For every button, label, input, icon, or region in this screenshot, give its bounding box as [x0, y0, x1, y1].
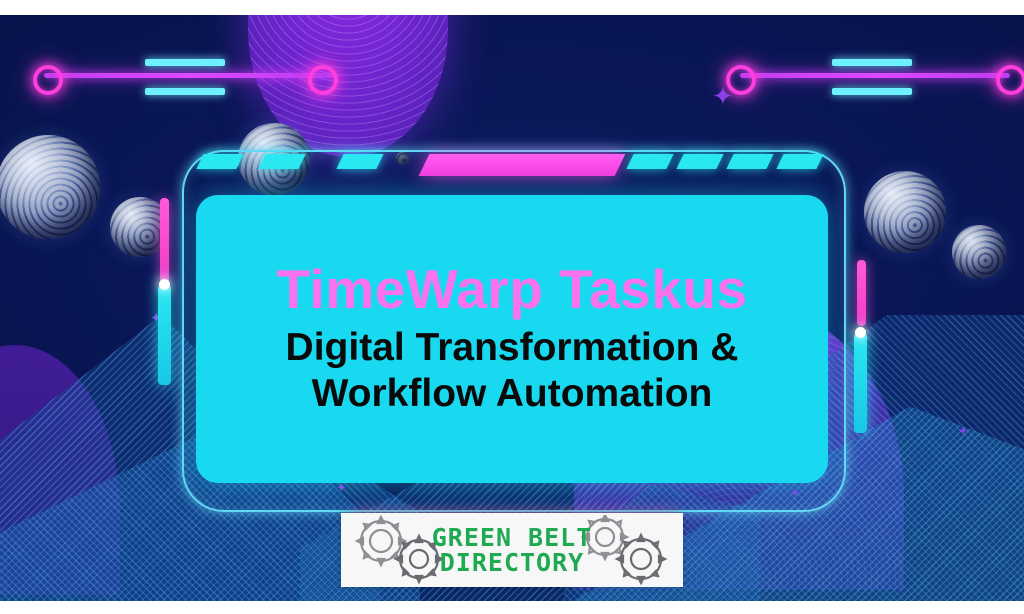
cyan-parallelogram-dash [196, 154, 243, 169]
cyan-dash-left-upper [145, 59, 225, 66]
sparkle-icon: ✦ [712, 83, 734, 109]
cyan-accent-bar-left [158, 285, 171, 385]
neon-ring-right-end [996, 65, 1024, 95]
green-belt-directory-logo[interactable]: GREEN BELT DIRECTORY [341, 513, 683, 587]
cyan-parallelogram-dash [726, 154, 773, 169]
cyan-accent-bar-right [854, 333, 867, 433]
pink-accent-bar-left [160, 198, 169, 284]
cyan-dash-right-lower [832, 88, 912, 95]
logo-line-2: DIRECTORY [440, 550, 584, 575]
cyan-parallelogram-dash [626, 154, 673, 169]
planet-sphere-1 [0, 135, 100, 239]
planet-sphere-4 [864, 171, 946, 253]
page-title: TimeWarp Taskus [276, 261, 747, 319]
logo-wordmark: GREEN BELT DIRECTORY [432, 525, 593, 575]
letterbox-top [0, 0, 1024, 15]
white-dot-right [855, 327, 866, 338]
cyan-dash-left-lower [145, 88, 225, 95]
logo-line-1: GREEN BELT [432, 525, 593, 550]
neon-ring-left-start [33, 65, 63, 95]
poster-canvas: ✦ ✦ ✦ ✦ ✦ TimeWarp Taskus Digital Transf… [0, 0, 1024, 614]
pink-accent-bar-right [857, 260, 866, 326]
pink-parallelogram-bar [419, 154, 626, 176]
sparkle-icon: ✦ [958, 425, 968, 437]
cyan-parallelogram-dash [776, 154, 823, 169]
planet-sphere-5 [952, 225, 1006, 279]
cyan-parallelogram-dash [258, 154, 305, 169]
neon-connector-line-left [44, 73, 334, 78]
cyan-dash-right-upper [832, 59, 912, 66]
content-panel: TimeWarp Taskus Digital Transformation &… [196, 195, 828, 483]
page-subtitle: Digital Transformation & Workflow Automa… [272, 325, 753, 417]
cyan-parallelogram-dash [676, 154, 723, 169]
white-dot-left [159, 279, 170, 290]
neon-connector-line-right [740, 73, 1010, 78]
letterbox-bottom [0, 601, 1024, 614]
page-subtitle-line2: Workflow Automation [312, 372, 713, 415]
cyan-parallelogram-dash [336, 154, 383, 169]
neon-ring-left-end [308, 65, 338, 95]
page-subtitle-line1: Digital Transformation & [286, 326, 739, 369]
